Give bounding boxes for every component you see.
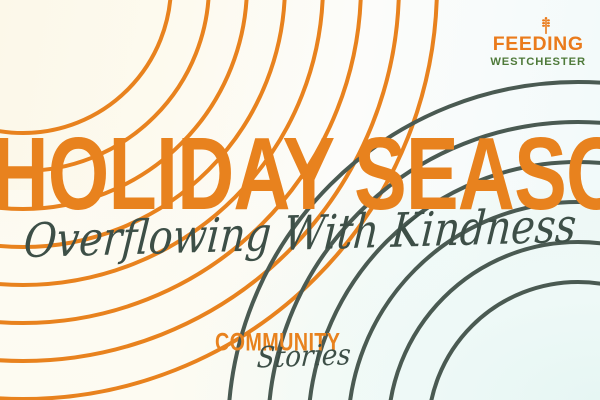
- logo-wordmark-feeding: FEEDING: [493, 35, 584, 55]
- logo-wordmark-westchester: WESTCHESTER: [490, 57, 586, 68]
- promo-graphic-canvas: FEEDING WESTCHESTER A HOLIDAY SEASON Ove…: [0, 0, 600, 400]
- subtitle: Overflowing With Kindness: [23, 206, 576, 261]
- feeding-westchester-logo: FEEDING WESTCHESTER: [490, 17, 586, 68]
- community-stories-lockup: COMMUNITY Stories: [210, 330, 390, 390]
- wheat-stalk-icon: [541, 17, 551, 34]
- page-title: A HOLIDAY SEASON: [0, 133, 600, 208]
- lockup-word-stories: Stories: [256, 341, 352, 373]
